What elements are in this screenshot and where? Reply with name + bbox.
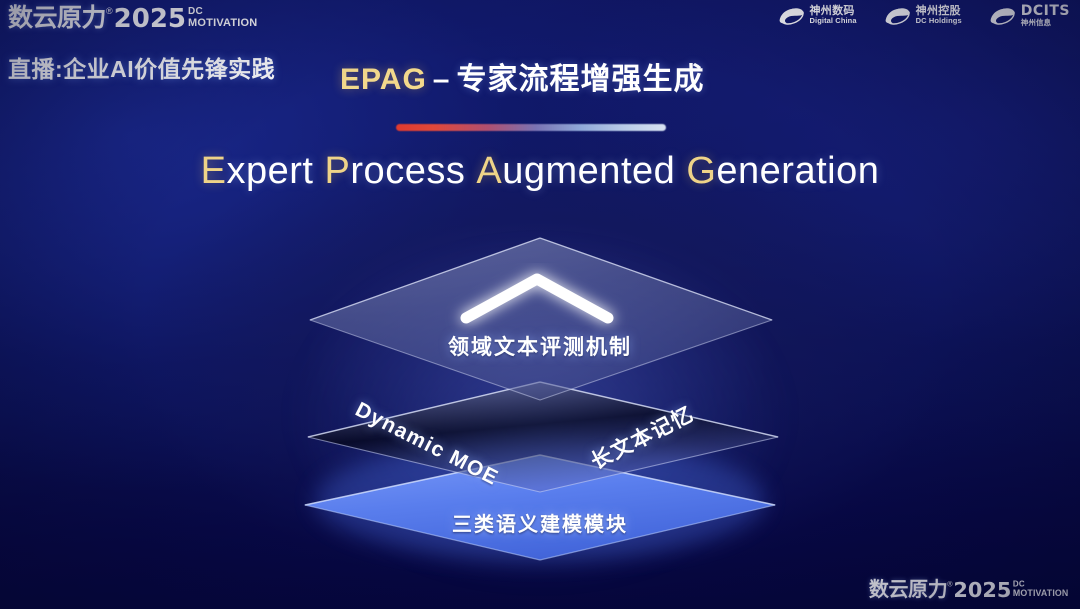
slide-canvas: 数云原力 ® 2025 DC MOTIVATION 直播:企业AI价值先锋实践 …: [0, 0, 1080, 609]
page-subtitle: Expert Process Augmented Generation: [0, 150, 1080, 193]
subtitle-cap-4: G: [686, 150, 716, 192]
partner-logo-cn: DCITS: [1021, 4, 1070, 19]
live-session-title: 直播:企业AI价值先锋实践: [8, 50, 275, 84]
swirl-icon: [883, 5, 911, 27]
brand-logo-year: 2025: [114, 6, 186, 32]
page-title-dash: –: [427, 63, 457, 96]
brand-logo-bottom-right: 数云原力 ® 2025 DC MOTIVATION: [868, 580, 1068, 601]
subtitle-cap-2: P: [325, 150, 351, 192]
swirl-icon: [988, 5, 1016, 27]
gradient-divider: [396, 124, 666, 131]
brand-logo-dc: DC: [188, 7, 257, 18]
subtitle-cap-3: A: [476, 150, 502, 192]
partner-logo-dcits: DCITS 神州信息: [988, 4, 1070, 27]
partner-logo-en: 神州信息: [1021, 19, 1070, 27]
stack-layer-top[interactable]: [310, 238, 772, 400]
brand-logo-motivation: MOTIVATION: [188, 18, 257, 30]
swirl-icon: [777, 5, 805, 27]
subtitle-rest-1: xpert: [227, 150, 314, 192]
subtitle-cap-1: E: [201, 150, 227, 192]
partner-logo-bar: 神州数码 Digital China 神州控股 DC Holdings: [777, 4, 1071, 27]
brand-logo-motivation: MOTIVATION: [1012, 589, 1068, 598]
brand-logo-subtext: DC MOTIVATION: [188, 7, 257, 29]
partner-logo-en: DC Holdings: [916, 17, 962, 25]
partner-logo-digital-china: 神州数码 Digital China: [777, 5, 857, 27]
brand-logo-top-left: 数云原力 ® 2025 DC MOTIVATION: [8, 6, 257, 32]
brand-logo-registered-mark: ®: [947, 581, 952, 588]
brand-logo-year: 2025: [953, 580, 1011, 601]
partner-logo-dc-holdings: 神州控股 DC Holdings: [883, 5, 962, 27]
subtitle-rest-2: rocess: [350, 150, 465, 192]
brand-logo-subtext: DC MOTIVATION: [1012, 581, 1068, 599]
partner-logo-text: DCITS 神州信息: [1021, 4, 1070, 27]
brand-logo-cn-name: 数云原力: [868, 580, 946, 600]
partner-logo-en: Digital China: [810, 17, 857, 25]
brand-logo-registered-mark: ®: [106, 7, 113, 16]
subtitle-rest-3: ugmented: [502, 150, 675, 192]
subtitle-rest-4: eneration: [716, 150, 879, 192]
page-title-abbr: EPAG: [340, 63, 427, 96]
page-title-cn: 专家流程增强生成: [456, 63, 704, 96]
page-title: EPAG–专家流程增强生成: [340, 54, 704, 98]
partner-logo-text: 神州控股 DC Holdings: [916, 6, 962, 26]
brand-logo-cn-name: 数云原力: [8, 6, 106, 31]
partner-logo-text: 神州数码 Digital China: [810, 6, 857, 26]
